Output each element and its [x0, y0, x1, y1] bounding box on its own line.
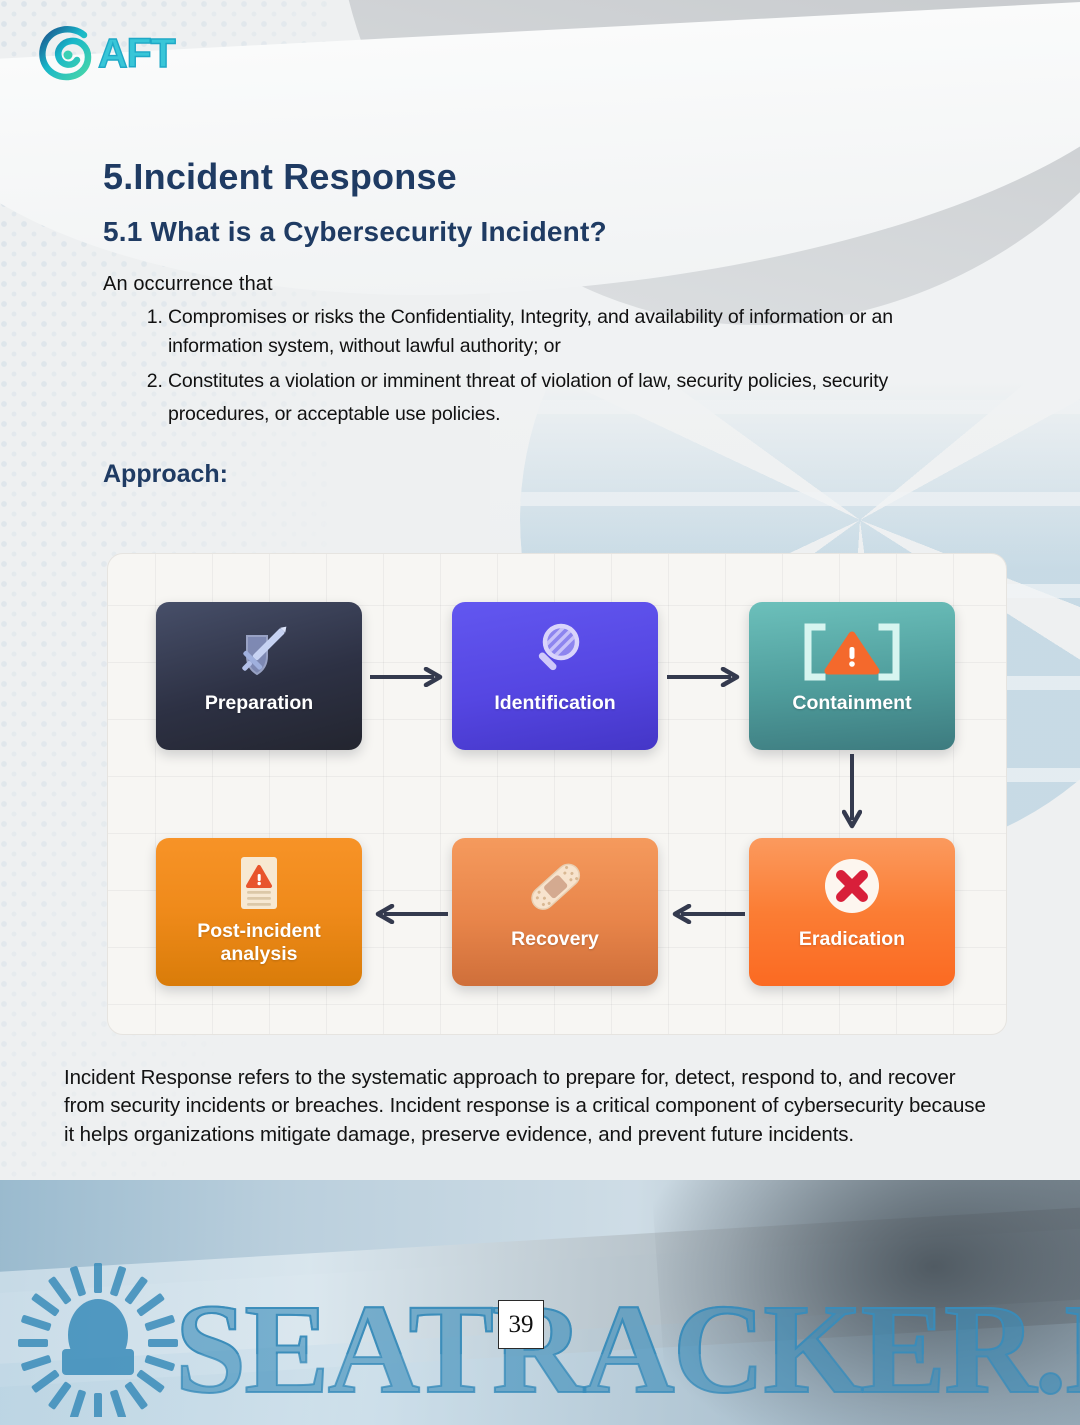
- document-warning-icon: [225, 850, 293, 920]
- diagram-node-eradication[interactable]: Eradication: [749, 838, 955, 986]
- bandage-icon: [519, 848, 591, 928]
- diagram-node-label: Post-incident analysis: [156, 920, 362, 967]
- definition-list: Compromises or risks the Confidentiality…: [130, 303, 988, 436]
- diagram-node-recovery[interactable]: Recovery: [452, 838, 658, 986]
- diagram-node-label: Eradication: [791, 928, 913, 951]
- section-title: 5.1 What is a Cybersecurity Incident?: [103, 216, 607, 248]
- diagram-node-containment[interactable]: Containment: [749, 602, 955, 750]
- page-number: 39: [498, 1300, 544, 1349]
- approach-label: Approach:: [103, 460, 228, 489]
- diagram-node-label: Identification: [486, 692, 623, 715]
- diagram-node-identification[interactable]: Identification: [452, 602, 658, 750]
- arrow-eradication-to-recovery: [667, 904, 745, 924]
- arrow-containment-to-eradication: [842, 754, 862, 834]
- red-x-circle-icon: [817, 848, 887, 928]
- closing-paragraph: Incident Response refers to the systemat…: [64, 1064, 999, 1149]
- arrow-preparation-to-identification: [370, 667, 448, 687]
- diagram-node-preparation[interactable]: Preparation: [156, 602, 362, 750]
- brackets-warning-icon: [796, 612, 908, 692]
- incident-response-diagram: Preparation Identification: [107, 553, 1007, 1035]
- diagram-node-label: Preparation: [197, 692, 321, 715]
- sunburst-icon: [18, 1257, 178, 1417]
- arrow-identification-to-containment: [667, 667, 745, 687]
- brand-logo-text: AFT: [98, 33, 175, 74]
- intro-text: An occurrence that: [103, 273, 273, 296]
- arrow-recovery-to-post-incident-analysis: [370, 904, 448, 924]
- shield-sword-icon: [223, 612, 295, 692]
- diagram-node-label: Recovery: [503, 928, 607, 951]
- fingerprint-swirl-icon: [38, 25, 94, 81]
- diagram-node-label: Containment: [784, 692, 919, 715]
- list-item: Constitutes a violation or imminent thre…: [168, 365, 988, 432]
- diagram-node-post-incident-analysis[interactable]: Post-incident analysis: [156, 838, 362, 986]
- list-item: Compromises or risks the Confidentiality…: [168, 303, 988, 361]
- page-title: 5.Incident Response: [103, 156, 457, 198]
- magnifying-glass-icon: [519, 612, 591, 692]
- brand-logo: AFT: [38, 22, 183, 84]
